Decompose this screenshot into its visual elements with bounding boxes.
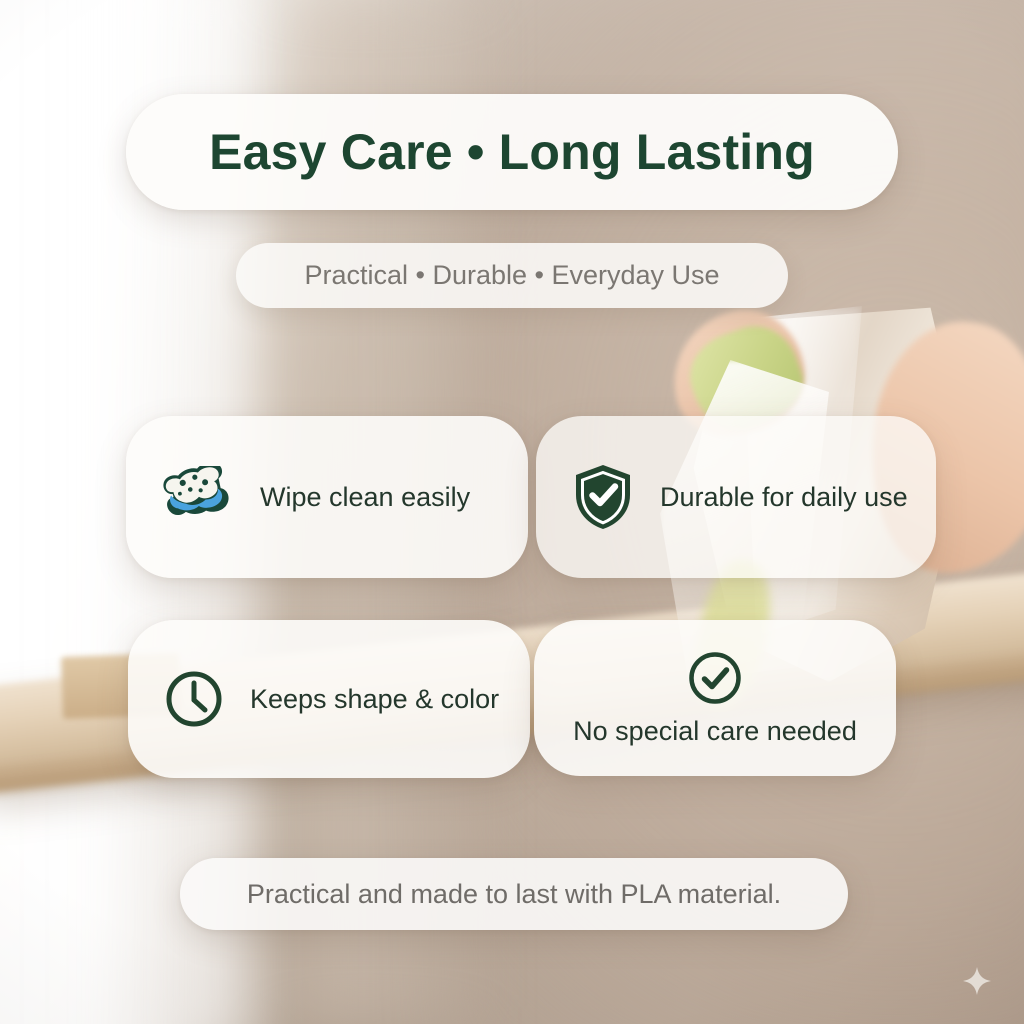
- clock-icon: [164, 669, 224, 729]
- page-subtitle: Practical • Durable • Everyday Use: [304, 260, 719, 291]
- sponge-icon: [162, 466, 234, 528]
- feature-label-wipe-clean: Wipe clean easily: [260, 482, 470, 513]
- feature-card-no-special-care[interactable]: No special care needed: [534, 620, 896, 776]
- feature-label-no-special-care: No special care needed: [573, 716, 857, 747]
- footer-pill: Practical and made to last with PLA mate…: [180, 858, 848, 930]
- feature-card-keeps-shape[interactable]: Keeps shape & color: [128, 620, 530, 778]
- title-pill: Easy Care • Long Lasting: [126, 94, 898, 210]
- circle-check-icon: [687, 650, 743, 706]
- page-title: Easy Care • Long Lasting: [209, 123, 815, 181]
- feature-card-wipe-clean[interactable]: Wipe clean easily: [126, 416, 528, 578]
- feature-label-keeps-shape: Keeps shape & color: [250, 684, 499, 715]
- subtitle-pill: Practical • Durable • Everyday Use: [236, 243, 788, 308]
- feature-label-durable: Durable for daily use: [660, 482, 908, 513]
- feature-card-durable[interactable]: Durable for daily use: [536, 416, 936, 578]
- shield-check-icon: [572, 463, 634, 531]
- infographic-canvas: Easy Care • Long Lasting Practical • Dur…: [0, 0, 1024, 1024]
- sparkle-icon: [962, 966, 992, 996]
- footer-caption: Practical and made to last with PLA mate…: [247, 879, 781, 910]
